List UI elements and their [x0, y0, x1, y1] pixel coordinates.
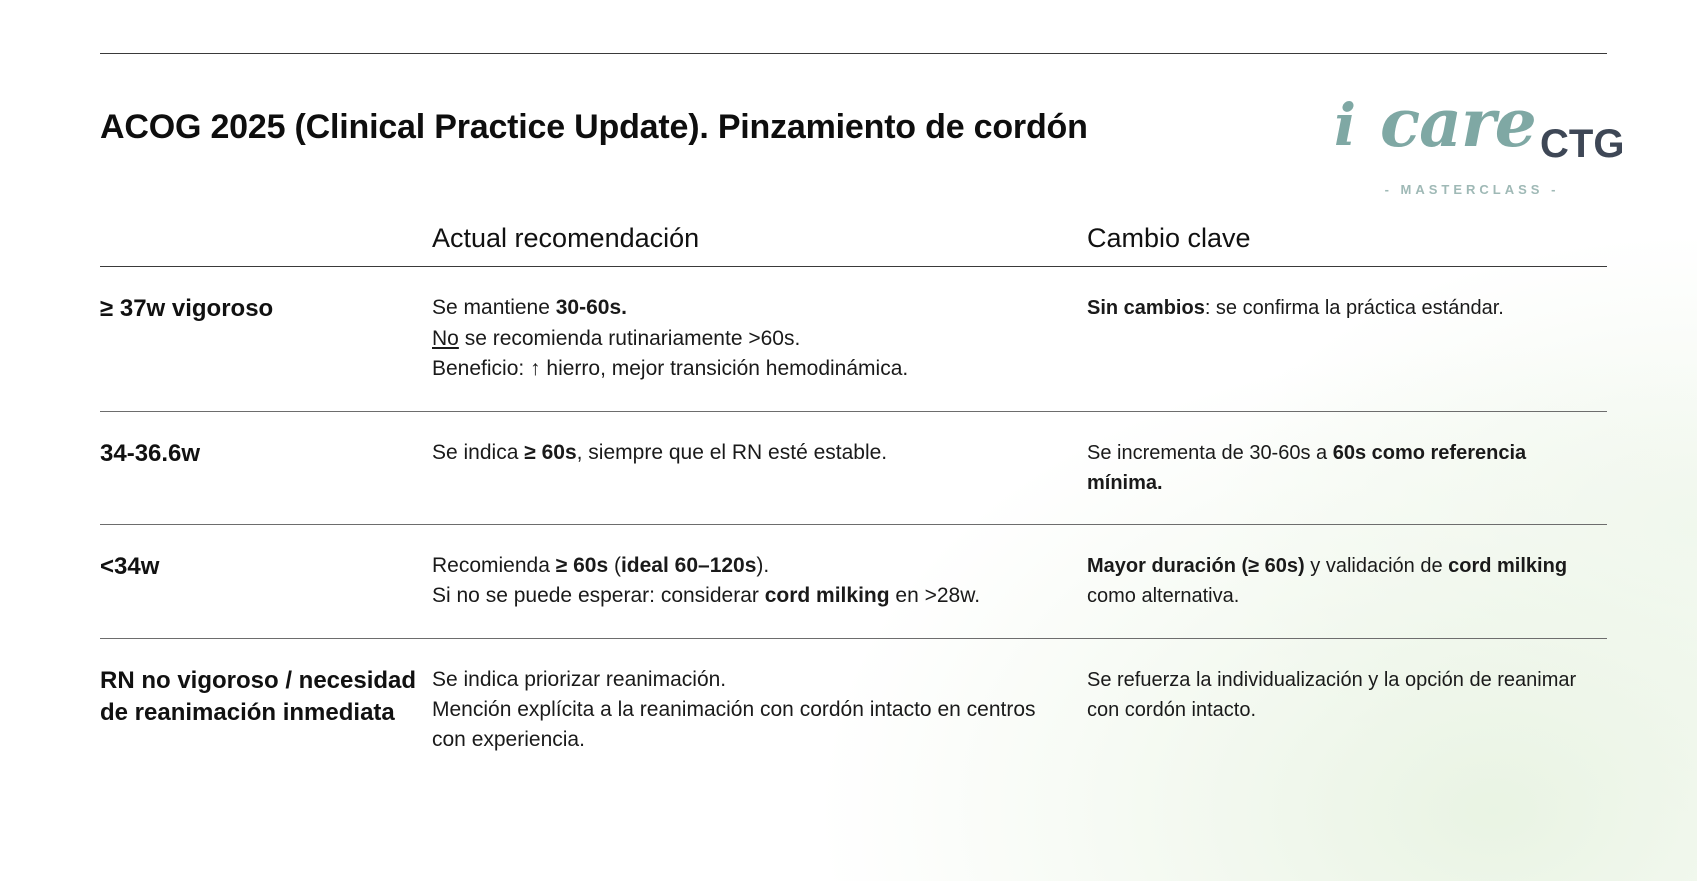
row-label: ≥ 37w vigoroso — [100, 293, 418, 325]
top-divider — [100, 53, 1607, 54]
table-row: 34-36.6wSe indica ≥ 60s, siempre que el … — [100, 412, 1607, 524]
row-label-cell: ≥ 37w vigoroso — [100, 293, 432, 325]
text-segment: Si no se puede esperar: considerar — [432, 584, 765, 607]
header-cell-change: Cambio clave — [1087, 222, 1607, 254]
cell-text: Se indica ≥ 60s, siempre que el RN esté … — [432, 438, 1063, 468]
text-segment: ). — [756, 554, 769, 577]
cell-text: Se indica priorizar reanimación.Mención … — [432, 665, 1063, 756]
table-row: ≥ 37w vigorosoSe mantiene 30-60s.No se r… — [100, 267, 1607, 410]
emphasis-bold: ≥ 60s — [556, 554, 608, 577]
logo-letter-i: i — [1334, 96, 1356, 154]
text-segment: : se confirma la práctica estándar. — [1205, 297, 1504, 319]
text-line: Se mantiene 30-60s. — [432, 293, 1063, 323]
text-segment: Se mantiene — [432, 296, 556, 319]
row-change-cell: Se incrementa de 30-60s a 60s como refer… — [1087, 438, 1607, 498]
row-recommendation-cell: Se indica ≥ 60s, siempre que el RN esté … — [432, 438, 1087, 468]
comparison-table: Actual recomendación Cambio clave ≥ 37w … — [100, 222, 1607, 782]
emphasis-bold: 30-60s. — [556, 296, 627, 319]
text-segment: Se refuerza la individualización y la op… — [1087, 669, 1576, 721]
text-line: Se indica priorizar reanimación. — [432, 665, 1063, 695]
table-row: <34wRecomienda ≥ 60s (ideal 60–120s).Si … — [100, 525, 1607, 638]
text-line: Beneficio: ↑ hierro, mejor transición he… — [432, 354, 1063, 384]
logo-word-ctg: CTG — [1540, 124, 1624, 164]
text-segment: , siempre que el RN esté estable. — [577, 441, 888, 464]
header-cell-recommendation: Actual recomendación — [432, 222, 1087, 254]
logo-wordmark: i care CTG — [1322, 88, 1622, 174]
text-line: Mayor duración (≥ 60s) y validación de c… — [1087, 551, 1607, 611]
cell-text: Se refuerza la individualización y la op… — [1087, 665, 1607, 725]
row-change-cell: Se refuerza la individualización y la op… — [1087, 665, 1607, 725]
row-recommendation-cell: Recomienda ≥ 60s (ideal 60–120s).Si no s… — [432, 551, 1087, 612]
text-line: Sin cambios: se confirma la práctica est… — [1087, 293, 1607, 323]
row-label: <34w — [100, 551, 418, 583]
page-title: ACOG 2025 (Clinical Practice Update). Pi… — [100, 108, 1280, 147]
text-segment: se recomienda rutinariamente >60s. — [459, 327, 800, 350]
emphasis-bold: ≥ 60s — [524, 441, 576, 464]
text-segment: Recomienda — [432, 554, 556, 577]
text-segment: Se indica priorizar reanimación. — [432, 668, 726, 691]
text-segment: Mención explícita a la reanimación con c… — [432, 698, 1036, 751]
emphasis-bold: ideal 60–120s — [621, 554, 756, 577]
row-change-cell: Sin cambios: se confirma la práctica est… — [1087, 293, 1607, 323]
cell-text: Se incrementa de 30-60s a 60s como refer… — [1087, 438, 1607, 498]
row-change-cell: Mayor duración (≥ 60s) y validación de c… — [1087, 551, 1607, 611]
text-line: Se incrementa de 30-60s a 60s como refer… — [1087, 438, 1607, 498]
text-line: Recomienda ≥ 60s (ideal 60–120s). — [432, 551, 1063, 581]
text-segment: en >28w. — [890, 584, 981, 607]
row-label-cell: 34-36.6w — [100, 438, 432, 470]
text-segment: Beneficio: ↑ hierro, mejor transición he… — [432, 357, 908, 380]
text-segment: como alternativa. — [1087, 585, 1239, 607]
row-recommendation-cell: Se indica priorizar reanimación.Mención … — [432, 665, 1087, 756]
cell-text: Mayor duración (≥ 60s) y validación de c… — [1087, 551, 1607, 611]
logo-word-care: care — [1380, 90, 1536, 156]
emphasis-bold: Sin cambios — [1087, 297, 1205, 319]
cell-text: Sin cambios: se confirma la práctica est… — [1087, 293, 1607, 323]
emphasis-bold: cord milking — [1448, 555, 1567, 577]
text-segment: y validación de — [1305, 555, 1448, 577]
text-line: Se indica ≥ 60s, siempre que el RN esté … — [432, 438, 1063, 468]
cell-text: Recomienda ≥ 60s (ideal 60–120s).Si no s… — [432, 551, 1063, 612]
text-line: Si no se puede esperar: considerar cord … — [432, 581, 1063, 611]
row-recommendation-cell: Se mantiene 30-60s.No se recomienda ruti… — [432, 293, 1087, 384]
cell-text: Se mantiene 30-60s.No se recomienda ruti… — [432, 293, 1063, 384]
emphasis-underline: No — [432, 327, 459, 350]
text-line: No se recomienda rutinariamente >60s. — [432, 324, 1063, 354]
text-segment: ( — [608, 554, 621, 577]
text-line: Mención explícita a la reanimación con c… — [432, 695, 1063, 756]
logo-subtitle: - MASTERCLASS - — [1322, 182, 1622, 197]
table-body: ≥ 37w vigorosoSe mantiene 30-60s.No se r… — [100, 267, 1607, 782]
text-segment: Se indica — [432, 441, 524, 464]
row-label: 34-36.6w — [100, 438, 418, 470]
table-header-row: Actual recomendación Cambio clave — [100, 222, 1607, 266]
text-line: Se refuerza la individualización y la op… — [1087, 665, 1607, 725]
emphasis-bold: Mayor duración (≥ 60s) — [1087, 555, 1305, 577]
emphasis-bold: cord milking — [765, 584, 890, 607]
table-row: RN no vigoroso / necesidad de reanimació… — [100, 639, 1607, 782]
brand-logo: i care CTG - MASTERCLASS - — [1322, 88, 1622, 212]
row-label: RN no vigoroso / necesidad de reanimació… — [100, 665, 418, 730]
text-segment: Se incrementa de 30-60s a — [1087, 442, 1333, 464]
row-label-cell: RN no vigoroso / necesidad de reanimació… — [100, 665, 432, 730]
row-label-cell: <34w — [100, 551, 432, 583]
slide-page: ACOG 2025 (Clinical Practice Update). Pi… — [0, 0, 1697, 881]
